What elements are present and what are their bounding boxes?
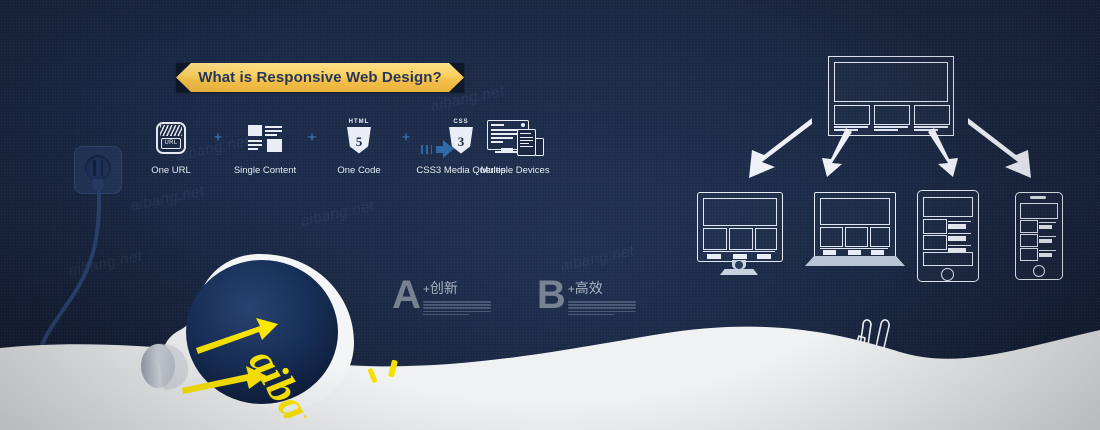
responsive-web-design-banner: aibang.net aibang.net aibang.net aibang.…	[0, 0, 1100, 430]
tablet-icon	[917, 190, 979, 282]
arrow-to-laptop	[822, 128, 852, 177]
light-bulb-icon: aibang	[110, 248, 400, 418]
smartphone-icon	[1015, 192, 1063, 280]
desktop-monitor-icon	[697, 192, 783, 280]
arrow-to-phone	[968, 118, 1031, 178]
arrow-to-tablet	[928, 128, 958, 177]
arrow-to-desktop	[749, 118, 812, 178]
laptop-icon	[805, 192, 905, 280]
